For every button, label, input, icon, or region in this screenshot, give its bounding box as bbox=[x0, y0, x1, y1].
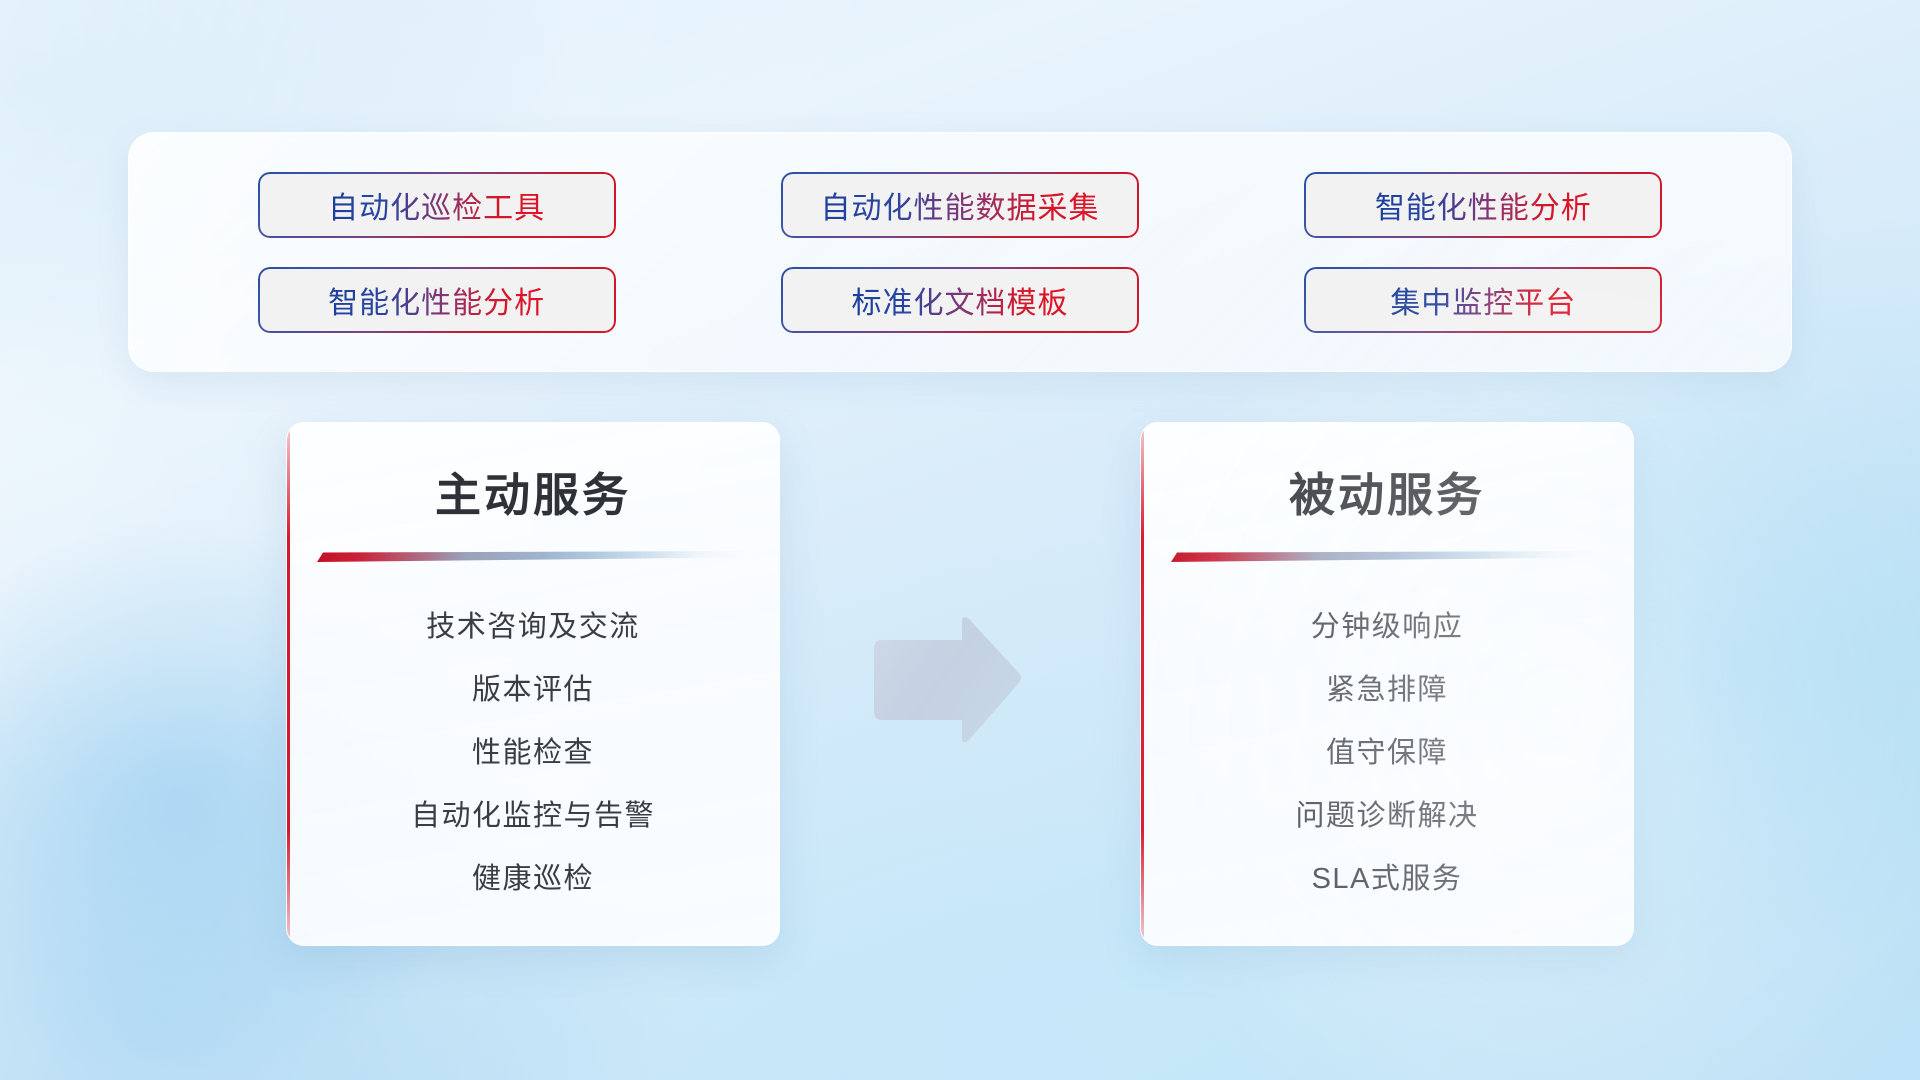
capability-pill-automated-inspection-tool[interactable]: 自动化巡检工具 bbox=[258, 172, 616, 238]
list-item: 分钟级响应 bbox=[1141, 596, 1633, 659]
capability-pill-label: 自动化巡检工具 bbox=[328, 183, 545, 227]
list-item: 性能检查 bbox=[287, 722, 779, 785]
reactive-service-card: 被动服务 分钟级响应 紧急排障 值守保障 问题诊断解决 SLA式服务 bbox=[1140, 422, 1634, 946]
proactive-title-divider bbox=[317, 551, 749, 562]
list-item: SLA式服务 bbox=[1141, 848, 1633, 911]
infographic-canvas: 自动化巡检工具 自动化性能数据采集 智能化性能分析 智能化性能分析 标准化文档模… bbox=[0, 0, 1920, 1080]
reactive-service-list: 分钟级响应 紧急排障 值守保障 问题诊断解决 SLA式服务 bbox=[1141, 596, 1633, 911]
list-item: 值守保障 bbox=[1141, 722, 1633, 785]
right-arrow-icon bbox=[866, 614, 1024, 748]
list-item: 紧急排障 bbox=[1141, 659, 1633, 722]
capability-pill-intelligent-performance-analysis-bottom[interactable]: 智能化性能分析 bbox=[258, 267, 616, 333]
proactive-service-title: 主动服务 bbox=[287, 459, 779, 525]
capability-pill-automated-performance-data-collection[interactable]: 自动化性能数据采集 bbox=[781, 172, 1139, 238]
capability-pill-standardized-document-template[interactable]: 标准化文档模板 bbox=[781, 267, 1139, 333]
capability-pill-label: 集中监控平台 bbox=[1390, 278, 1576, 322]
capability-pill-label: 智能化性能分析 bbox=[1375, 183, 1592, 227]
list-item: 健康巡检 bbox=[287, 848, 779, 911]
list-item: 版本评估 bbox=[287, 659, 779, 722]
proactive-service-list: 技术咨询及交流 版本评估 性能检查 自动化监控与告警 健康巡检 bbox=[287, 596, 779, 911]
list-item: 自动化监控与告警 bbox=[287, 785, 779, 848]
capability-pill-centralized-monitoring-platform[interactable]: 集中监控平台 bbox=[1304, 267, 1662, 333]
capability-pill-intelligent-performance-analysis-top[interactable]: 智能化性能分析 bbox=[1304, 172, 1662, 238]
capability-pill-label: 自动化性能数据采集 bbox=[820, 183, 1099, 227]
capability-pill-label: 智能化性能分析 bbox=[328, 278, 545, 322]
list-item: 问题诊断解决 bbox=[1141, 785, 1633, 848]
capability-pill-label: 标准化文档模板 bbox=[851, 278, 1068, 322]
reactive-service-title: 被动服务 bbox=[1141, 459, 1633, 525]
proactive-service-card: 主动服务 技术咨询及交流 版本评估 性能检查 自动化监控与告警 健康巡检 bbox=[286, 422, 780, 946]
capabilities-panel: 自动化巡检工具 自动化性能数据采集 智能化性能分析 智能化性能分析 标准化文档模… bbox=[128, 132, 1792, 372]
list-item: 技术咨询及交流 bbox=[287, 596, 779, 659]
reactive-title-divider bbox=[1171, 551, 1603, 562]
